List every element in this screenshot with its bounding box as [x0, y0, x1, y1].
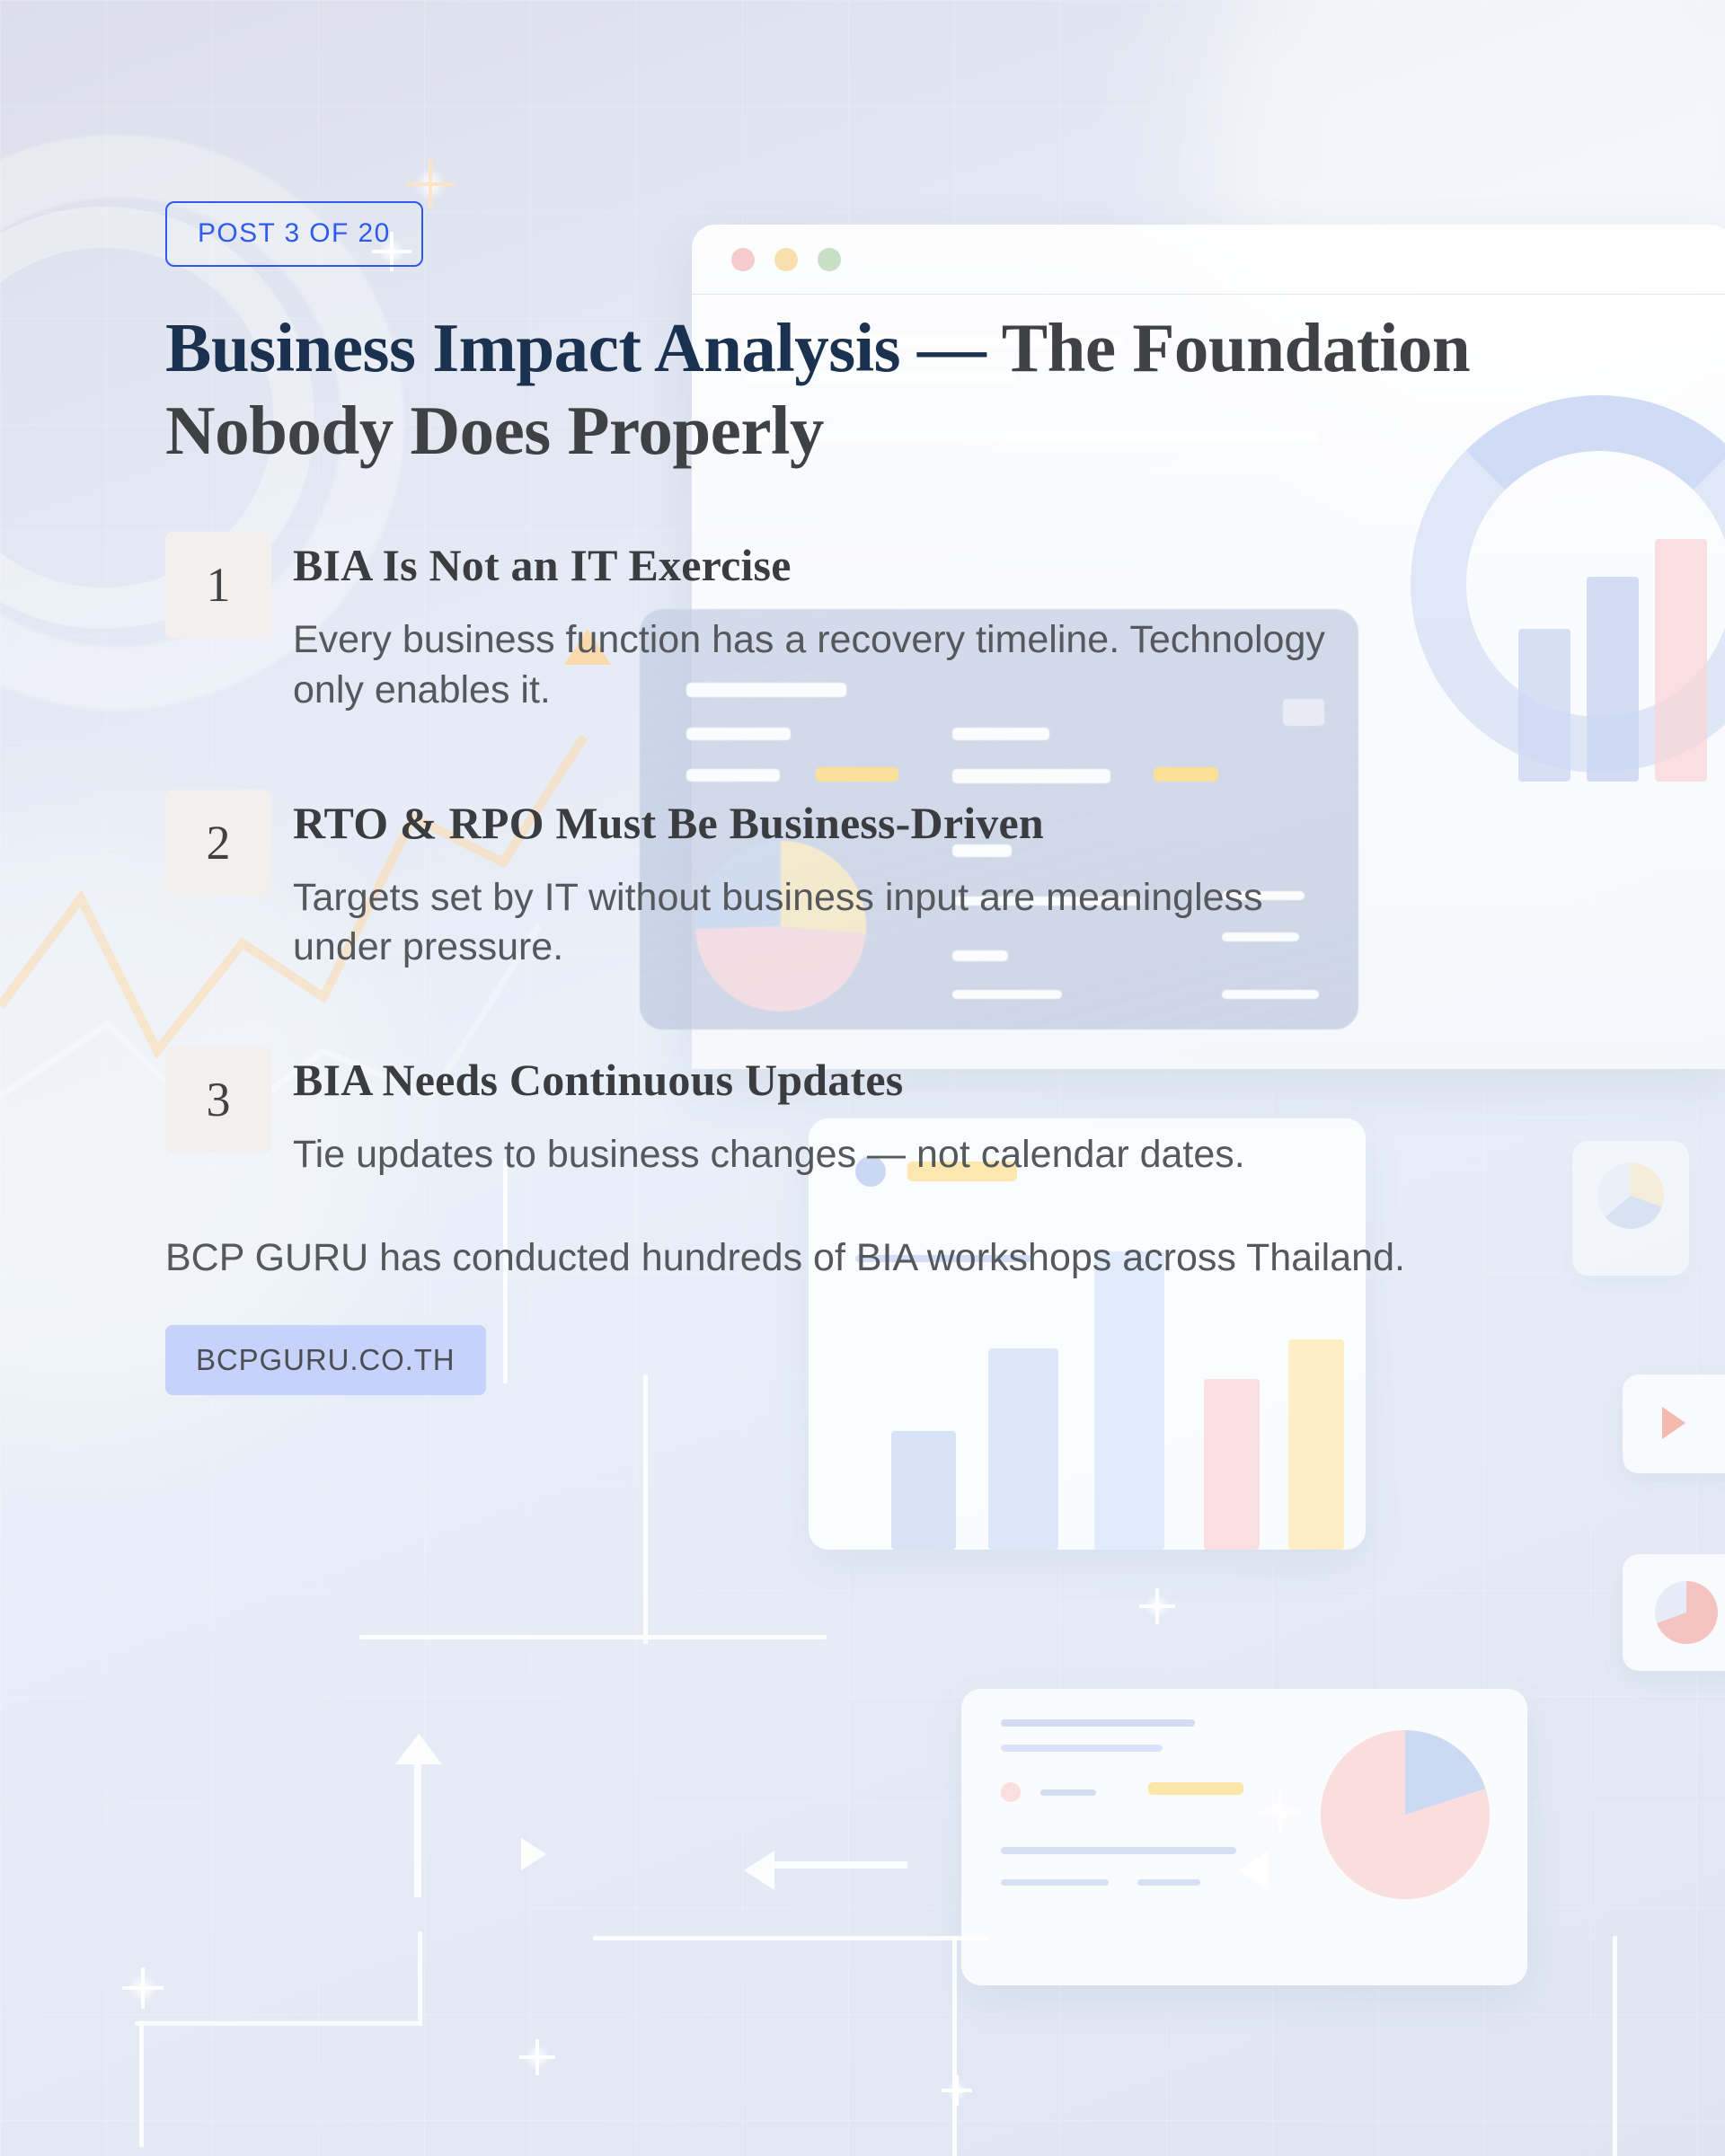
point-number-chip: 3: [165, 1047, 271, 1153]
decor-arrow-shaft-1: [414, 1763, 421, 1897]
decor-arrow-right-1: [521, 1838, 546, 1870]
decor-sparkle-6: [519, 2039, 555, 2075]
point-text-block: RTO & RPO Must Be Business-Driven Target…: [293, 790, 1371, 974]
decor-sparkle-4: [1139, 1588, 1175, 1624]
decor-flow-line-9: [593, 1936, 988, 1940]
decor-flow-line-3: [952, 1936, 957, 2156]
card-content: POST 3 OF 20 Business Impact Analysis — …: [0, 0, 1725, 1395]
point-text-block: BIA Needs Continuous Updates Tie updates…: [293, 1047, 1245, 1180]
point-text-block: BIA Is Not an IT Exercise Every business…: [293, 532, 1371, 716]
list-item: 3 BIA Needs Continuous Updates Tie updat…: [165, 1047, 1590, 1180]
decor-sparkle-5: [122, 1967, 164, 2009]
page-title: Business Impact Analysis — The Foundatio…: [165, 306, 1513, 473]
decor-arrow-shaft-2: [773, 1861, 907, 1869]
point-title: BIA Needs Continuous Updates: [293, 1056, 1245, 1105]
point-body: Every business function has a recovery t…: [293, 615, 1371, 716]
post-counter-badge: POST 3 OF 20: [165, 201, 423, 267]
decor-flow-line-6: [135, 2021, 422, 2026]
website-url-badge[interactable]: BCPGURU.CO.TH: [165, 1325, 486, 1395]
decor-flow-line-7: [418, 1931, 422, 2026]
decor-arrow-left-2: [1238, 1851, 1269, 1890]
decor-sparkle-7: [942, 2075, 972, 2106]
point-number-chip: 1: [165, 532, 271, 638]
decor-sparkle-3: [1260, 1791, 1301, 1833]
decor-flow-line-2: [643, 1374, 648, 1644]
point-body: Tie updates to business changes — not ca…: [293, 1130, 1245, 1180]
decor-pie-chart-card: [961, 1689, 1527, 1985]
list-item: 2 RTO & RPO Must Be Business-Driven Targ…: [165, 790, 1590, 974]
point-body: Targets set by IT without business input…: [293, 873, 1371, 974]
decor-flow-line-5: [1613, 1936, 1617, 2156]
decor-flow-line-1: [359, 1635, 827, 1639]
social-card-canvas: POST 3 OF 20 Business Impact Analysis — …: [0, 0, 1725, 2156]
list-item: 1 BIA Is Not an IT Exercise Every busine…: [165, 532, 1590, 716]
decor-card-pie: [1321, 1730, 1490, 1899]
key-points-list: 1 BIA Is Not an IT Exercise Every busine…: [165, 532, 1590, 1180]
headline-lead: Business Impact Analysis —: [165, 309, 986, 386]
point-number-chip: 2: [165, 790, 271, 896]
decor-flow-line-8: [139, 2021, 144, 2147]
footnote-text: BCP GURU has conducted hundreds of BIA w…: [165, 1233, 1531, 1284]
point-title: BIA Is Not an IT Exercise: [293, 541, 1371, 590]
decor-arrow-left-1: [744, 1851, 774, 1890]
decor-arrow-up-1: [395, 1734, 442, 1764]
decor-mini-widget-pie: [1623, 1554, 1725, 1671]
point-title: RTO & RPO Must Be Business-Driven: [293, 799, 1371, 848]
